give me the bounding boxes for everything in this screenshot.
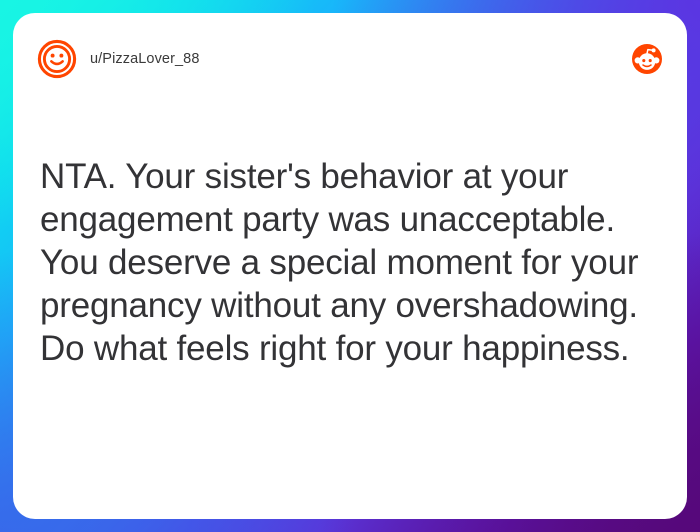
comment-text: NTA. Your sister's behavior at your enga… [40, 155, 664, 370]
username-label: u/PizzaLover_88 [90, 51, 200, 67]
smiley-face-avatar-icon[interactable] [37, 39, 77, 79]
gradient-background: u/PizzaLover_88 NTA. Your sister's behav… [0, 0, 700, 532]
comment-header: u/PizzaLover_88 [13, 13, 687, 105]
reddit-snoo-logo-icon[interactable] [631, 43, 663, 75]
reddit-comment-card: u/PizzaLover_88 NTA. Your sister's behav… [13, 13, 687, 519]
